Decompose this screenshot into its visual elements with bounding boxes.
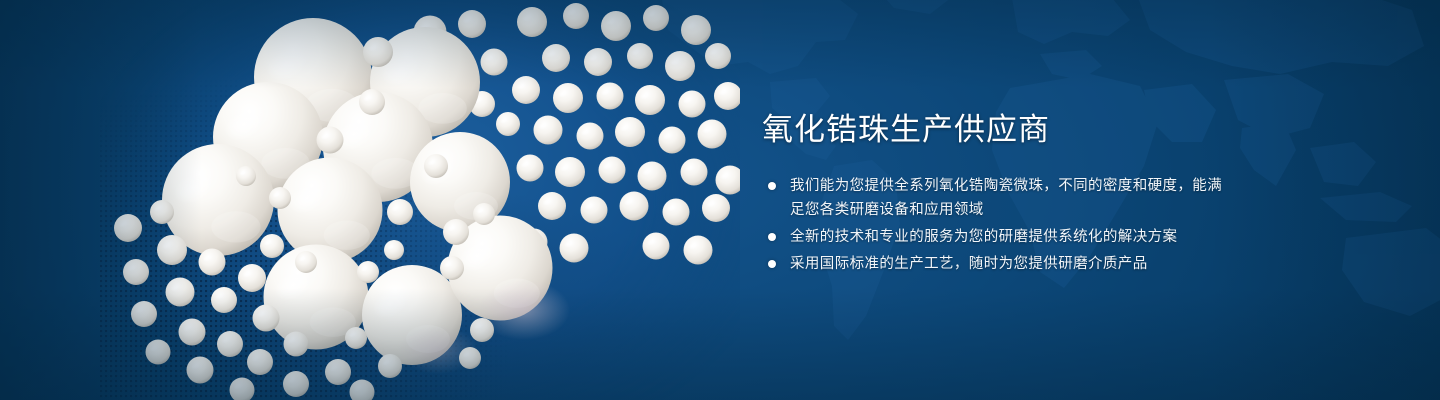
bullet-dot-icon: [768, 182, 776, 190]
list-item-text: 采用国际标准的生产工艺，随时为您提供研磨介质产品: [790, 256, 1148, 272]
list-item: 全新的技术和专业的服务为您的研磨提供系统化的解决方案: [762, 225, 1232, 249]
bullet-dot-icon: [768, 260, 776, 268]
page-title: 氧化锆珠生产供应商: [762, 110, 1232, 150]
list-item: 采用国际标准的生产工艺，随时为您提供研磨介质产品: [762, 252, 1232, 276]
banner-copy: 氧化锆珠生产供应商 我们能为您提供全系列氧化锆陶瓷微珠，不同的密度和硬度，能满足…: [762, 110, 1232, 279]
list-item-text: 我们能为您提供全系列氧化锆陶瓷微珠，不同的密度和硬度，能满足您各类研磨设备和应用…: [790, 178, 1222, 218]
list-item: 我们能为您提供全系列氧化锆陶瓷微珠，不同的密度和硬度，能满足您各类研磨设备和应用…: [762, 174, 1232, 222]
hero-banner: 氧化锆珠生产供应商 我们能为您提供全系列氧化锆陶瓷微珠，不同的密度和硬度，能满足…: [0, 0, 1440, 400]
bullet-dot-icon: [768, 233, 776, 241]
list-item-text: 全新的技术和专业的服务为您的研磨提供系统化的解决方案: [790, 229, 1177, 245]
feature-list: 我们能为您提供全系列氧化锆陶瓷微珠，不同的密度和硬度，能满足您各类研磨设备和应用…: [762, 174, 1232, 276]
